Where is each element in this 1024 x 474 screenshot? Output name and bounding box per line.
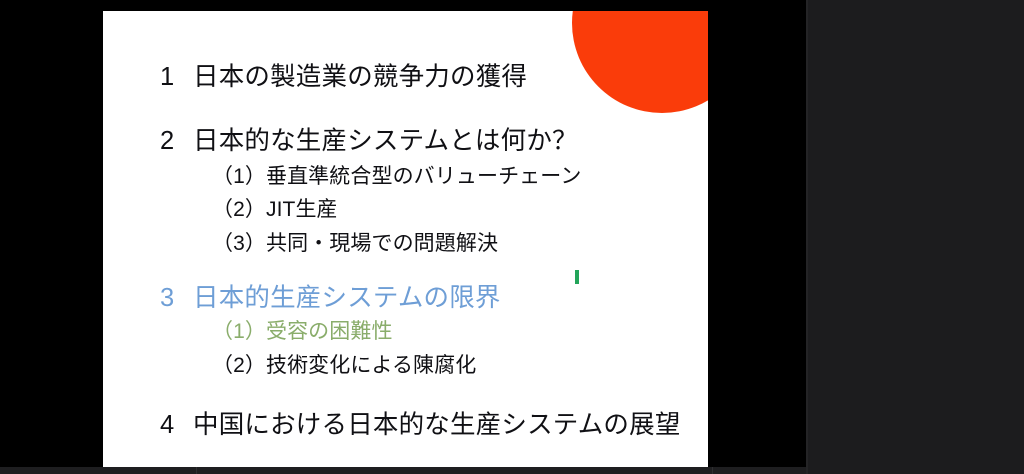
participant-sidebar: 藤川昇悟（西南学院大学） [808,0,1024,474]
outline-item-3-label: 日本的生産システムの限界 [193,284,501,312]
slide-outline-list: 1日本の製造業の競争力の獲得 2日本的な生産システムとは何か？ （1）垂直準統合… [103,11,708,467]
outline-item-1: 1日本の製造業の競争力の獲得 [160,65,527,91]
outline-item-3-number: 3 [160,286,193,312]
outline-item-2-label: 日本的な生産システムとは何か？ [193,127,578,155]
stage-bottom-strip [0,467,806,474]
outline-item-2-3: （3）共同・現場での問題解決 [212,233,498,254]
outline-item-2: 2日本的な生産システムとは何か？ [160,129,578,155]
presentation-slide[interactable]: 1日本の製造業の競争力の獲得 2日本的な生産システムとは何か？ （1）垂直準統合… [103,11,708,467]
outline-item-3: 3日本的生産システムの限界 [160,286,501,312]
outline-item-4-label: 中国における日本的な生産システムの展望 [193,411,681,439]
outline-item-4: 4中国における日本的な生産システムの展望 [160,413,681,439]
outline-item-1-label: 日本の製造業の競争力の獲得 [193,63,527,91]
outline-item-2-1: （1）垂直準統合型のバリューチェーン [212,166,581,187]
meeting-screen-share-view: 1日本の製造業の競争力の獲得 2日本的な生産システムとは何か？ （1）垂直準統合… [0,0,1024,474]
outline-item-1-number: 1 [160,65,193,91]
outline-item-3-2: （2）技術変化による陳腐化 [212,355,476,376]
shared-screen-stage[interactable]: 1日本の製造業の競争力の獲得 2日本的な生産システムとは何か？ （1）垂直準統合… [0,0,806,467]
outline-item-2-2: （2）JIT生産 [212,199,338,220]
outline-item-2-number: 2 [160,129,193,155]
stage-bottom-seam-left [196,467,197,474]
stage-bottom-seam-right [712,467,713,474]
green-cursor-mark [575,270,579,284]
outline-item-4-number: 4 [160,413,193,439]
outline-item-3-1: （1）受容の困難性 [212,321,393,342]
